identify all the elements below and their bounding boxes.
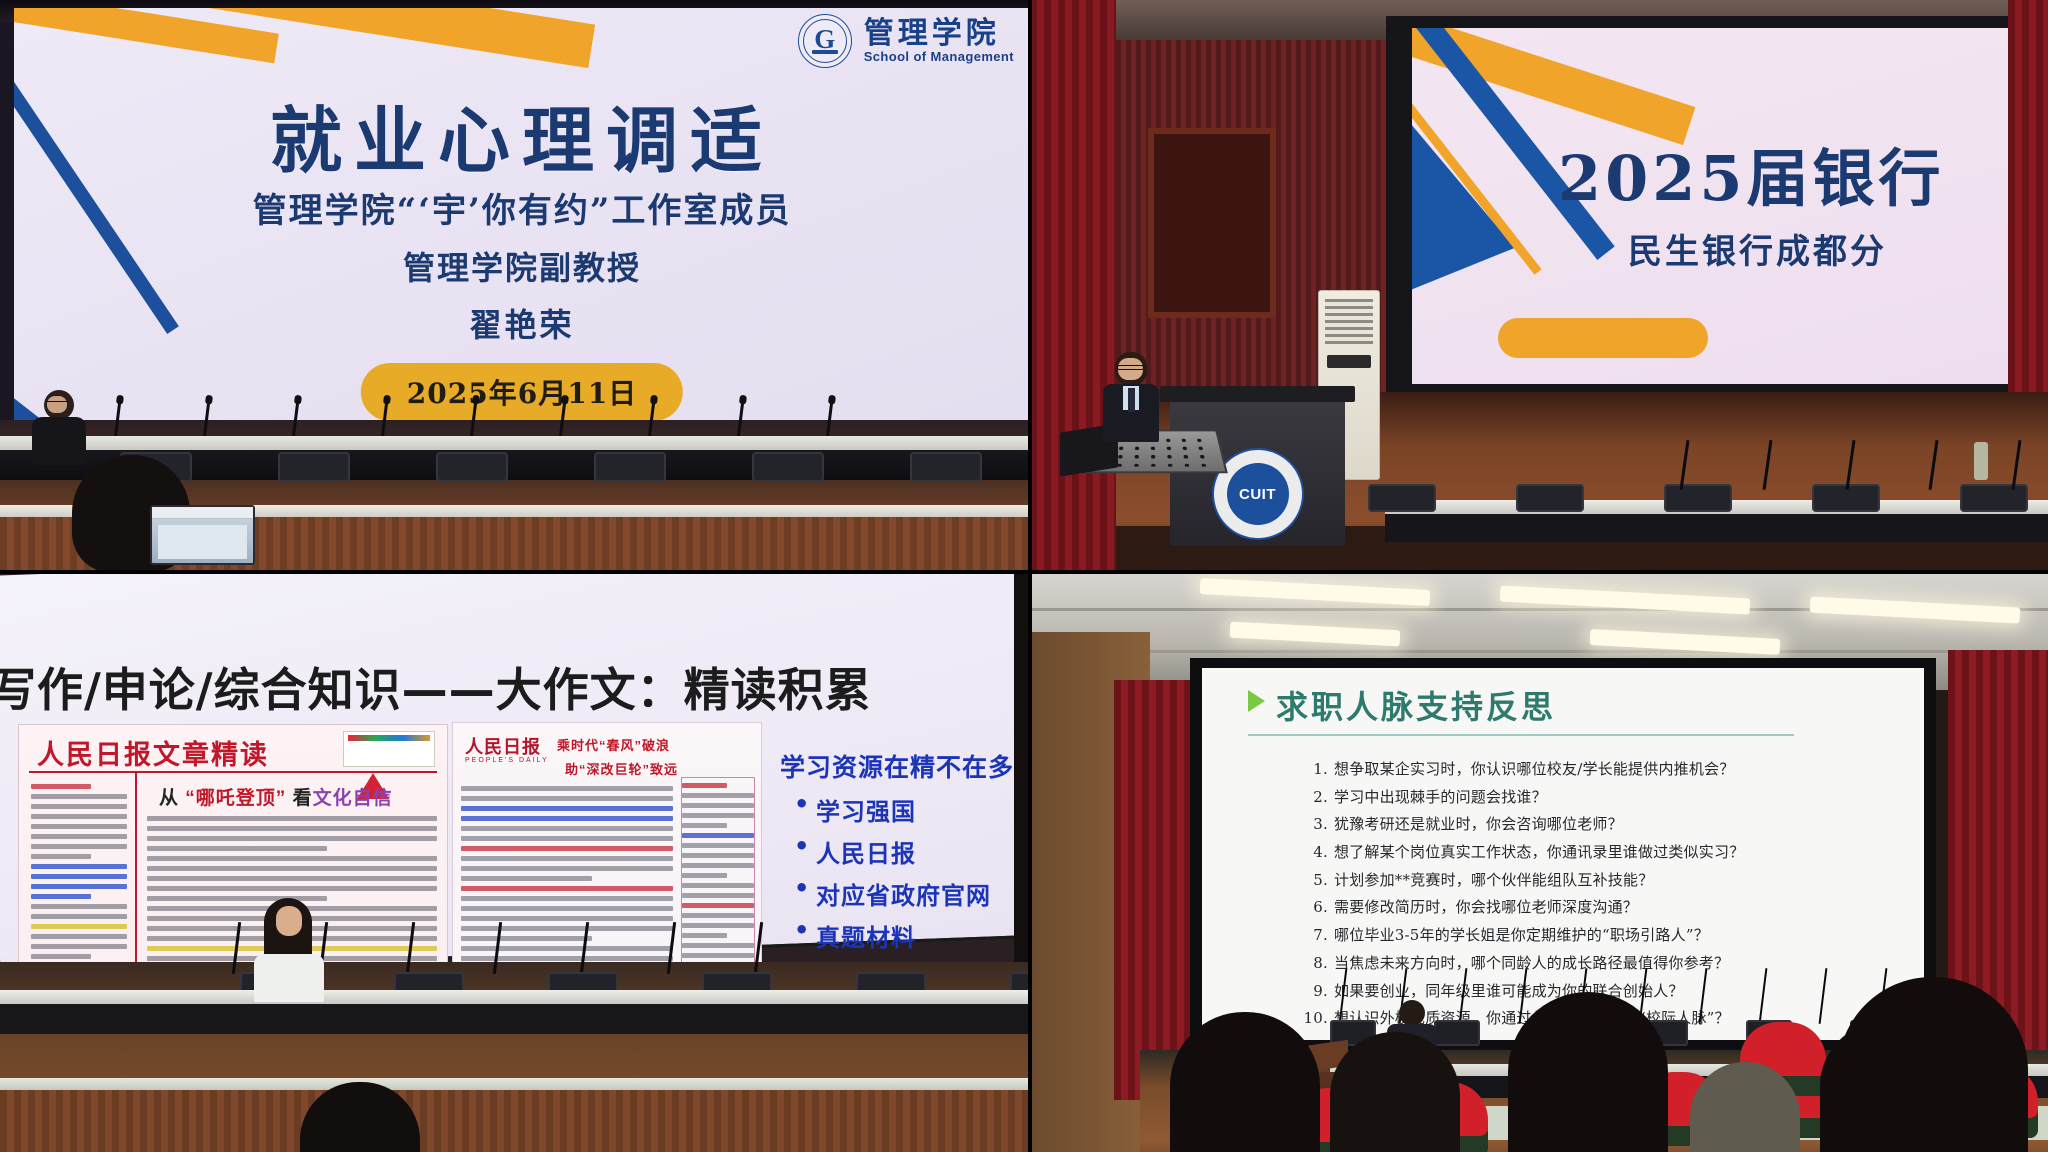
text-line (461, 816, 673, 821)
text-line (147, 826, 437, 831)
speaker-body (254, 954, 324, 1002)
speaker-face (276, 906, 302, 936)
panel-divider-horizontal (0, 570, 2048, 574)
newspaper-masthead-thumb (343, 731, 435, 767)
text-line (31, 834, 127, 839)
masthead-color-strip (348, 735, 430, 741)
ceiling-panel-line (1030, 650, 2048, 653)
text-line (31, 824, 127, 829)
list-item: 学习强国 (790, 792, 1030, 827)
presenter-at-podium (1102, 352, 1160, 444)
text-line (31, 954, 91, 959)
list-item: 对应省政府官网 (790, 876, 1030, 911)
audience-head (1508, 992, 1668, 1152)
microphone-icon (1763, 440, 1773, 490)
microphone-icon (493, 922, 502, 974)
brand-text: 管理学院 School of Management (864, 18, 1014, 63)
text-line (682, 913, 754, 918)
text-line (31, 934, 127, 939)
microphone-icon (667, 922, 676, 974)
subheading-quote: “哪吒登顶” (185, 788, 286, 809)
microphone-row-2 (1683, 440, 2018, 490)
list-item: 犹豫考研还是就业时，你会咨询哪位老师？ (1300, 811, 1864, 838)
text-line (31, 924, 127, 929)
panel-desk-lower-3 (0, 1078, 1030, 1090)
globe-icon: CUIT (1227, 463, 1289, 525)
glasses-icon (46, 401, 68, 405)
text-line (31, 844, 127, 849)
text-line (682, 793, 754, 798)
text-line (461, 916, 673, 921)
university-seal-icon: G (798, 14, 852, 68)
ac-grill-icon (1325, 299, 1373, 345)
slide-title-2: 2025届银行 (1558, 128, 1945, 218)
list-item: 想争取某企实习时，你认识哪位校友/学长能提供内推机会？ (1300, 756, 1864, 783)
panel-desk-front-2 (1385, 514, 2048, 542)
newspaper-headline-1: 乘时代“春风”破浪 (557, 735, 670, 754)
panel-essay-writing-lecture: 写作/申论/综合知识——大作文：精读积累 人民日报文章精读 从 “哪吒登顶” 看… (0, 572, 1030, 1152)
decor-orange-pill-2 (1498, 318, 1708, 358)
text-line (682, 833, 754, 838)
text-line (31, 854, 91, 859)
text-line (682, 873, 727, 878)
stage-wood-3 (0, 1090, 1030, 1152)
audience-head (1838, 977, 2028, 1152)
text-line (147, 876, 437, 881)
panel-divider-vertical (1028, 0, 1032, 1152)
text-line (147, 836, 437, 841)
list-item: 想了解某个岗位真实工作状态，你通讯录里谁做过类似实习？ (1300, 839, 1864, 866)
text-line (31, 864, 127, 869)
text-line (31, 884, 127, 889)
speaker-body (32, 417, 86, 465)
text-line (461, 826, 673, 831)
text-line (31, 804, 127, 809)
laptop-toolbar (152, 507, 253, 519)
audience-head (1170, 1012, 1320, 1152)
text-line (682, 813, 754, 818)
newspaper-left-header: 人民日报文章精读 (37, 733, 269, 772)
text-line (461, 806, 673, 811)
peoples-daily-logo-en: PEOPLE'S DAILY (465, 757, 549, 764)
microphone-icon (1929, 440, 1939, 490)
text-line (147, 816, 437, 821)
microphone-icon (1846, 440, 1856, 490)
text-line (31, 914, 127, 919)
speaker-seated (30, 390, 88, 470)
text-line (461, 876, 592, 881)
text-line (461, 846, 673, 851)
brand-name-en: School of Management (864, 50, 1014, 64)
ac-display-panel (1327, 355, 1371, 368)
list-item: 学习中出现棘手的问题会找谁？ (1300, 784, 1864, 811)
projection-screen-2: 2025届银行 民生银行成都分 (1412, 28, 2048, 384)
slide-title-1: 就业心理调适 (14, 82, 1030, 187)
laptop-document-area (158, 525, 247, 559)
text-line (461, 866, 673, 871)
microphone-icon (406, 922, 415, 974)
chair-icon (436, 452, 508, 482)
panel-desk-front-3 (0, 1004, 1030, 1034)
green-arrow-bullet-icon (1248, 690, 1265, 712)
slide-presenter-name: 翟艳荣 (14, 300, 1030, 346)
text-line (461, 836, 673, 841)
slide-title-3: 写作/申论/综合知识——大作文：精读积累 (0, 654, 872, 720)
text-line (31, 874, 127, 879)
peoples-daily-logo-cn: 人民日报 (465, 733, 541, 759)
text-line (682, 893, 754, 898)
slide-subtitle-2b: 民生银行成都分 (1628, 224, 1887, 273)
subheading-emph: 文化自信 (313, 788, 393, 809)
text-line (147, 866, 437, 871)
chair-icon (594, 452, 666, 482)
text-line (147, 846, 327, 851)
text-line (31, 904, 127, 909)
text-line (461, 886, 673, 891)
bullets-heading: 学习资源在精不在多 (780, 748, 1030, 784)
list-item: 真题材料 (790, 918, 1030, 953)
text-line (461, 906, 673, 911)
slide-subtitle-1: 管理学院“‘宇’你有约”工作室成员 (14, 183, 1030, 232)
text-line (682, 853, 754, 858)
text-line (682, 883, 754, 888)
photo-collage: G 管理学院 School of Management 就业心理调适 管理学院“… (0, 0, 2048, 1152)
text-line (682, 863, 754, 868)
chair-icon (278, 452, 350, 482)
list-item: 哪位毕业3-5年的学长姐是你定期维护的“职场引路人”？ (1300, 922, 1864, 949)
text-line (31, 944, 127, 949)
seal-bar (812, 50, 838, 54)
text-line (682, 843, 754, 848)
text-line (682, 823, 727, 828)
speaker-female-3 (252, 898, 324, 1002)
text-line (31, 794, 127, 799)
text-line (147, 886, 437, 891)
chair-icon (1516, 484, 1584, 512)
text-line (682, 803, 754, 808)
wall-niche (1148, 128, 1276, 318)
chair-icon (910, 452, 982, 482)
list-item: 人民日报 (790, 834, 1030, 869)
audience-head (1330, 1032, 1460, 1152)
decor-orange-ribbon-2 (14, 8, 279, 63)
chair-icon (1368, 484, 1436, 512)
panel-job-network-reflection: 求职人脉支持反思 想争取某企实习时，你认识哪位校友/学长能提供内推机会？ 学习中… (1030, 572, 2048, 1152)
panel-employment-psychology-lecture: G 管理学院 School of Management 就业心理调适 管理学院“… (0, 0, 1030, 572)
lectern-top (1160, 386, 1355, 402)
text-line (682, 903, 754, 908)
slide-underline-4 (1248, 734, 1794, 736)
list-item: 计划参加**竞赛时，哪个伙伴能组队互补技能？ (1300, 867, 1864, 894)
projection-screen-1: G 管理学院 School of Management 就业心理调适 管理学院“… (14, 8, 1030, 428)
chair-row-1 (120, 452, 1030, 482)
slide-subtitle-2: 管理学院副教授 (14, 243, 1030, 289)
text-line (31, 784, 91, 789)
school-brand-lockup: G 管理学院 School of Management (798, 14, 1014, 68)
seal-letter: G (814, 26, 835, 53)
text-line (147, 856, 437, 861)
glasses-icon (1117, 365, 1144, 370)
cuit-logo-text: CUIT (1239, 486, 1276, 503)
cuit-university-logo: CUIT (1212, 448, 1304, 540)
text-line (461, 856, 673, 861)
newspaper-headline-2: 助“深改巨轮”致远 (565, 759, 678, 778)
text-line (31, 894, 91, 899)
curtain-left-2 (1030, 0, 1116, 572)
newspaper-subheading: 从 “哪吒登顶” 看文化自信 (159, 783, 393, 810)
panel-desk-top-3 (0, 990, 1030, 1004)
panel-bank-recruitment-talk: 2025届银行 民生银行成都分 CUIT (1030, 0, 2048, 572)
text-line (682, 783, 727, 788)
microphone-icon (580, 922, 589, 974)
text-line (461, 796, 673, 801)
panel-desk-top-1 (0, 436, 1030, 450)
text-line (31, 814, 127, 819)
brand-name-cn: 管理学院 (864, 18, 1014, 50)
list-item: 需要修改简历时，你会找哪位老师深度沟通？ (1300, 894, 1864, 921)
laptop-foreground (150, 505, 255, 565)
slide-title-4: 求职人脉支持反思 (1276, 682, 1556, 728)
presenter-tie (1128, 388, 1135, 412)
chair-icon (752, 452, 824, 482)
text-line (461, 896, 673, 901)
text-line (461, 786, 673, 791)
